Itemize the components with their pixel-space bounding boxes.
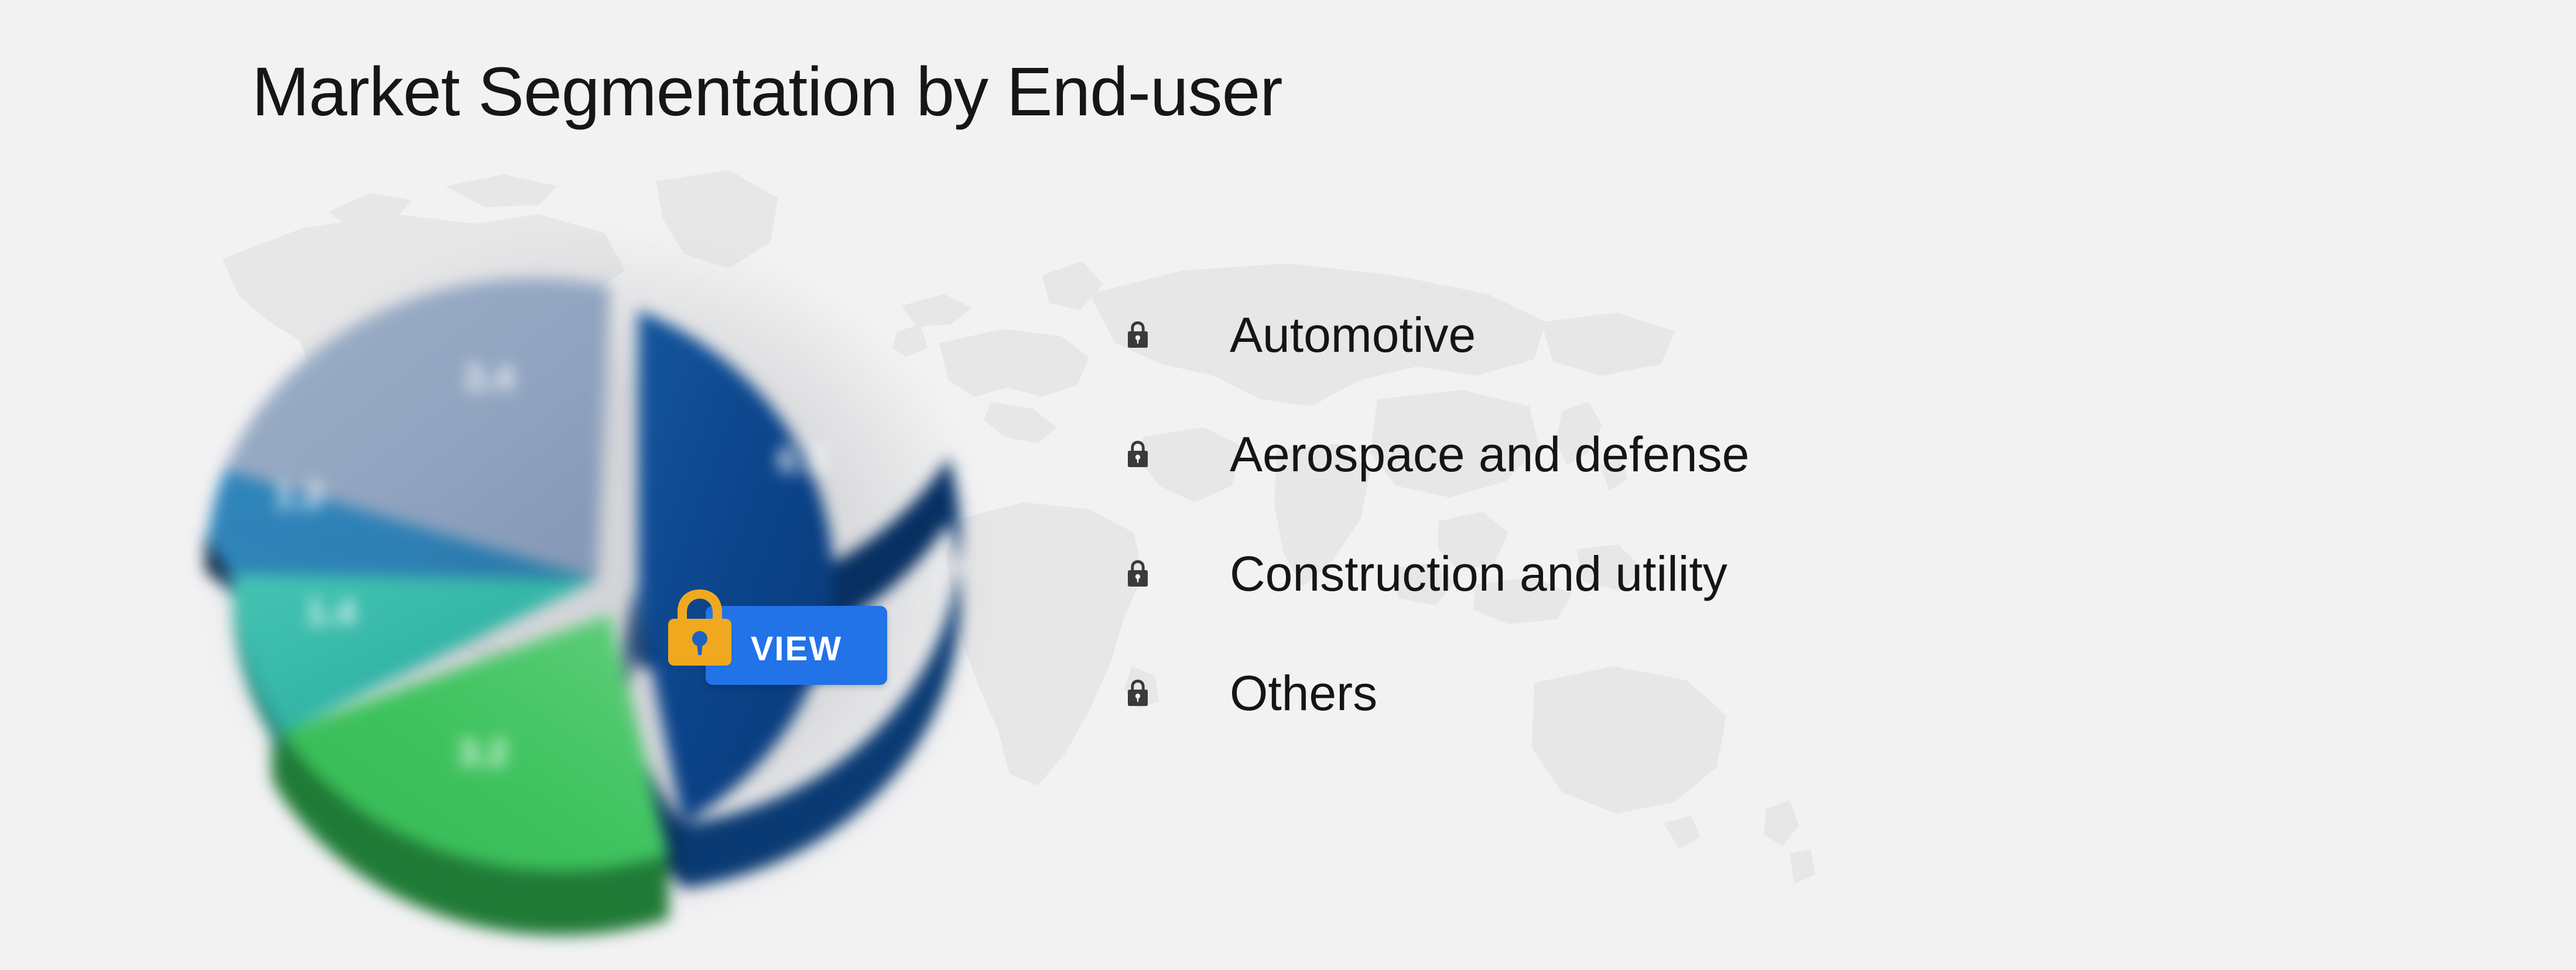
lock-icon — [659, 582, 741, 670]
pie-label-value-0: 6.2 — [777, 440, 827, 480]
legend: Automotive Aerospace and defense — [1124, 275, 2120, 753]
legend-item-label: Construction and utility — [1230, 546, 1727, 602]
lock-icon — [1124, 320, 1151, 350]
lock-icon — [1124, 558, 1151, 589]
page-title: Market Segmentation by End-user — [252, 57, 1282, 126]
legend-item-label: Others — [1230, 665, 1377, 722]
legend-item-label: Automotive — [1230, 307, 1476, 364]
pie-label-value-3: 1.4 — [306, 592, 357, 632]
view-button-label: VIEW — [751, 629, 842, 669]
pie-chart: 6.2 3.4 1.2 1.4 3.2 VIEW — [164, 170, 1054, 942]
lock-icon — [1124, 678, 1151, 708]
slide-canvas: Market Segmentation by End-user — [0, 0, 2576, 970]
pie-label-value-2: 1.2 — [273, 475, 324, 515]
pie-label-value-1: 3.4 — [464, 358, 515, 398]
paywall-overlay[interactable]: VIEW — [659, 582, 905, 700]
legend-item-aerospace-and-defense[interactable]: Aerospace and defense — [1124, 395, 2120, 514]
legend-item-automotive[interactable]: Automotive — [1124, 275, 2120, 395]
legend-item-others[interactable]: Others — [1124, 633, 2120, 753]
lock-icon — [1124, 439, 1151, 469]
pie-chart-blurred-layer: 6.2 3.4 1.2 1.4 3.2 — [164, 170, 1054, 942]
legend-item-construction-and-utility[interactable]: Construction and utility — [1124, 514, 2120, 633]
pie-label-value-4: 3.2 — [458, 732, 508, 773]
legend-item-label: Aerospace and defense — [1230, 426, 1749, 483]
pie-chart-svg: 6.2 3.4 1.2 1.4 3.2 — [164, 170, 1054, 942]
